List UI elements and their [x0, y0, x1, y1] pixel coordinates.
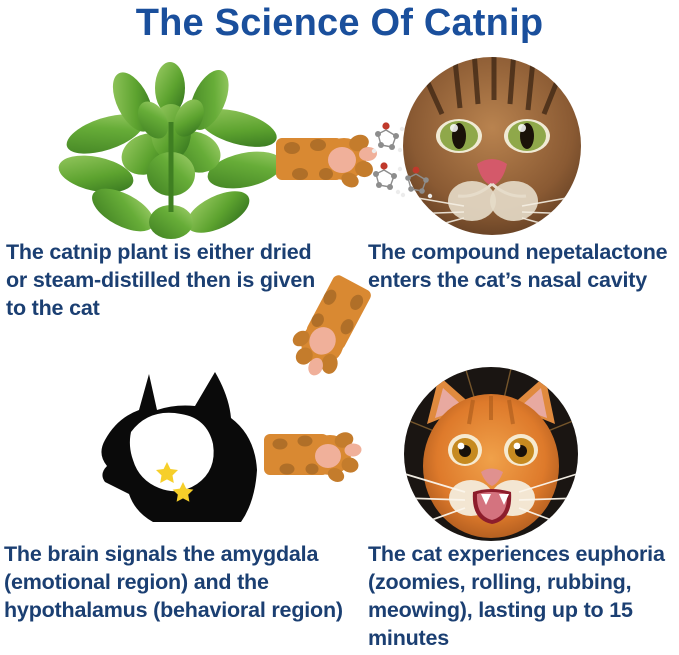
plant-leaves: [55, 62, 285, 241]
step-2-caption: The compound nepetalactone enters the ca…: [368, 238, 679, 294]
infographic-page: The Science Of Catnip: [0, 0, 679, 655]
arrow-1-paw-icon: [278, 124, 376, 194]
page-title: The Science Of Catnip: [0, 2, 679, 45]
nepetalactone-molecule-models: [372, 120, 452, 218]
catnip-plant-photo: [63, 62, 278, 237]
cat-photo-content: [397, 360, 585, 543]
step-4-caption: The cat experiences euphoria (zoomies, r…: [368, 540, 679, 652]
cat-silhouette-shape: [101, 372, 257, 522]
molecule-icon: [372, 122, 432, 198]
cat-paw-pointing-right-icon: [276, 132, 378, 190]
ginger-cat-excited-photo: [403, 366, 580, 543]
arrow-2-paw-icon: [270, 272, 368, 372]
arrow-3-paw-icon: [266, 422, 362, 488]
step-3-caption: The brain signals the amygdala (emotiona…: [4, 540, 349, 624]
cat-paw-pointing-right-icon: [264, 430, 362, 485]
